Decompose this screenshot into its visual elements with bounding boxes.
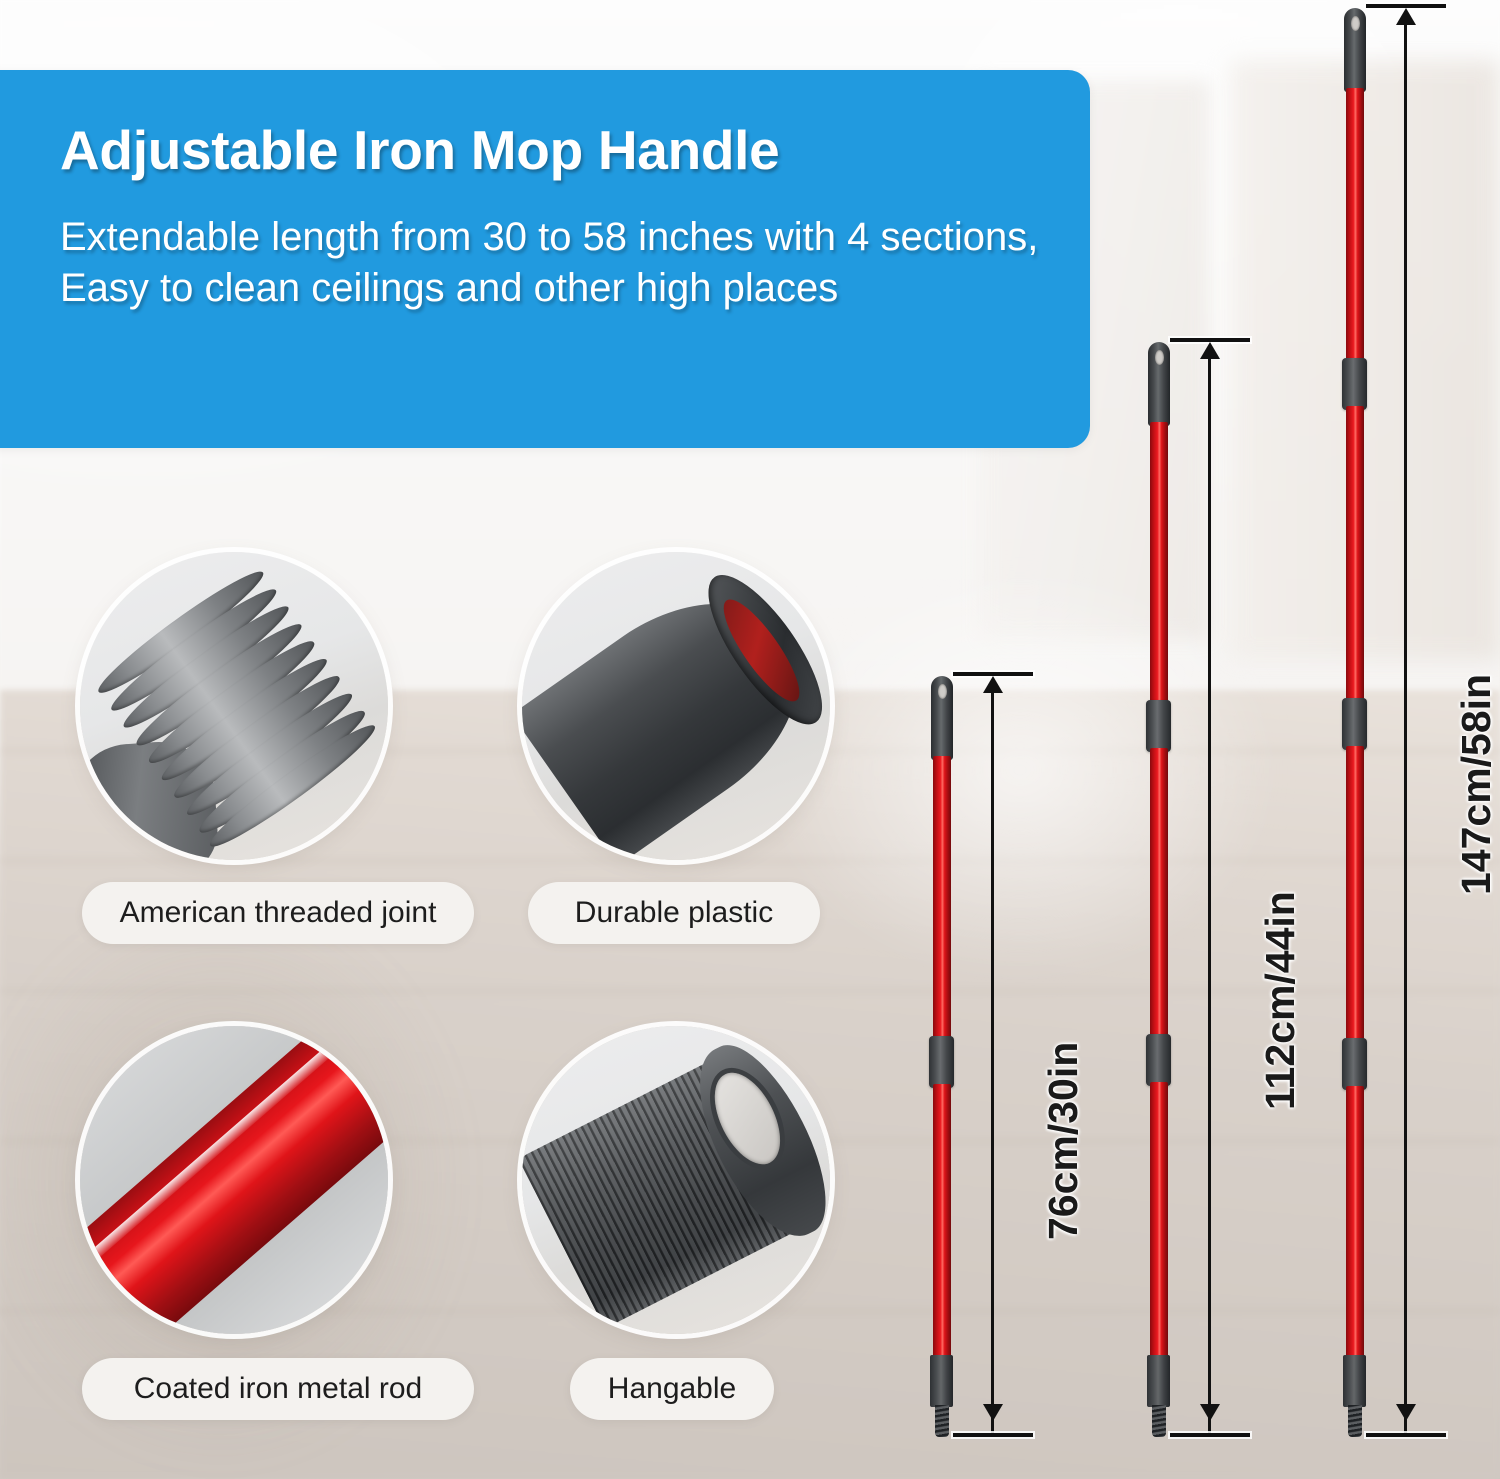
pole-medium-dim-line (1208, 356, 1211, 1435)
pole-medium-shaft-lower (1150, 1082, 1168, 1360)
pole-short-arrow-up-icon (983, 676, 1003, 693)
pole-short-dim-tick-bottom (953, 1433, 1033, 1437)
pole-medium-shaft-middle (1150, 748, 1168, 1038)
pole-tall-arrow-down-icon (1396, 1404, 1416, 1421)
durable-plastic-image (522, 552, 830, 860)
feature-label-durable-plastic: Durable plastic (528, 882, 820, 944)
coated-iron-metal-rod-image (80, 1026, 388, 1334)
pole-tall-shaft-3 (1346, 746, 1364, 1042)
pole-short-collar (929, 1036, 954, 1088)
pole-medium-arrow-up-icon (1200, 342, 1220, 359)
background-highlight (760, 560, 1280, 980)
pole-tall-collar-2 (1342, 698, 1367, 750)
pole-tall-collar-1 (1342, 358, 1367, 410)
pole-medium-collar-lower (1146, 1034, 1171, 1086)
pole-tall-shaft-2 (1346, 406, 1364, 702)
pole-short-arrow-down-icon (983, 1404, 1003, 1421)
hangable-image (522, 1026, 830, 1334)
feature-label-hangable: Hangable (570, 1358, 774, 1420)
pole-medium-shaft-upper (1150, 422, 1168, 704)
pole-medium-screw-thread-icon (1152, 1405, 1166, 1437)
pole-medium-arrow-down-icon (1200, 1404, 1220, 1421)
pole-short-cap-hole (938, 684, 947, 699)
pole-short-tip (930, 1355, 953, 1407)
pole-tall-dim-line (1404, 22, 1407, 1435)
product-infographic: Adjustable Iron Mop Handle Extendable le… (0, 0, 1500, 1479)
american-threaded-joint-image (80, 552, 388, 860)
pole-tall-arrow-up-icon (1396, 8, 1416, 25)
pole-tall-tip (1343, 1355, 1366, 1407)
feature-label-american-threaded-joint: American threaded joint (82, 882, 474, 944)
pole-medium-collar-upper (1146, 700, 1171, 752)
pole-medium-dim-tick-bottom (1170, 1433, 1250, 1437)
pole-short-screw-thread-icon (935, 1405, 949, 1437)
pole-tall-cap-hole (1351, 16, 1360, 31)
pole-tall-shaft-4 (1346, 1086, 1364, 1360)
pole-short-shaft-upper (933, 756, 951, 1042)
pole-medium-cap-hole (1155, 350, 1164, 365)
pole-tall-length-label: 147cm/58in (1453, 674, 1500, 895)
pole-tall-screw-thread-icon (1348, 1405, 1362, 1437)
pole-short-dim-line (991, 690, 994, 1435)
pole-short-shaft-lower (933, 1084, 951, 1360)
pole-tall-shaft-1 (1346, 88, 1364, 362)
pole-medium-tip (1147, 1355, 1170, 1407)
headline-banner: Adjustable Iron Mop Handle Extendable le… (0, 70, 1090, 448)
banner-subtitle: Extendable length from 30 to 58 inches w… (60, 212, 1055, 314)
red-rod-icon (80, 1026, 388, 1334)
page-title: Adjustable Iron Mop Handle (60, 118, 779, 182)
pole-short-length-label: 76cm/30in (1040, 1042, 1087, 1240)
feature-label-coated-iron-metal-rod: Coated iron metal rod (82, 1358, 474, 1420)
pole-medium-length-label: 112cm/44in (1257, 891, 1304, 1110)
pole-tall-dim-tick-bottom (1366, 1433, 1446, 1437)
pole-tall-collar-3 (1342, 1038, 1367, 1090)
